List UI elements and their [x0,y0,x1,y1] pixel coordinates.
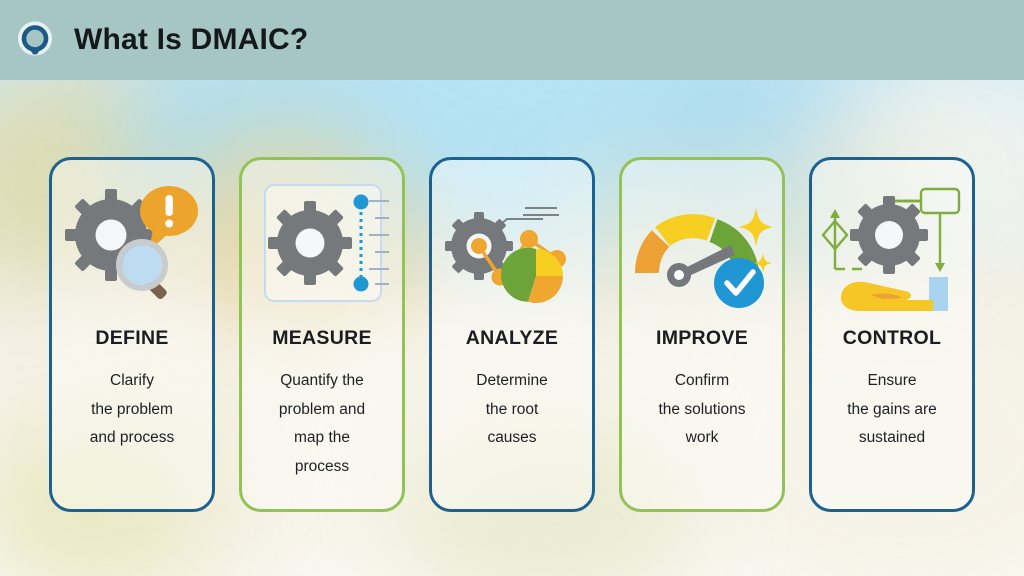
card-title: CONTROL [843,327,942,350]
gear-flowchart-hand-icon [812,160,972,325]
dmaic-card-row: DEFINE Clarify the problem and process [0,0,1024,576]
card-title: MEASURE [272,327,372,350]
card-title: IMPROVE [656,327,748,350]
card-description: Confirm the solutions work [652,367,751,453]
page-title: What Is DMAIC? [74,23,308,57]
gear-ruler-scale-icon [242,160,402,325]
card-improve[interactable]: IMPROVE Confirm the solutions work [619,157,785,512]
card-control[interactable]: CONTROL Ensure the gains are sustained [809,157,975,512]
gear-magnifier-alert-icon [52,160,212,325]
gauge-check-sparkle-icon [622,160,782,325]
lightbulb-ring-icon [14,19,56,61]
card-measure[interactable]: MEASURE Quantify the problem and map the… [239,157,405,512]
card-description: Ensure the gains are sustained [841,367,943,453]
card-title: ANALYZE [466,327,558,350]
card-define[interactable]: DEFINE Clarify the problem and process [49,157,215,512]
card-analyze[interactable]: ANALYZE Determine the root causes [429,157,595,512]
card-description: Determine the root causes [470,367,554,453]
card-description: Clarify the problem and process [84,367,180,453]
gear-chart-pie-icon [432,160,592,325]
slide-canvas: What Is DMAIC? [0,0,1024,576]
card-description: Quantify the problem and map the process [273,367,371,482]
header-bar: What Is DMAIC? [0,0,1024,80]
card-title: DEFINE [95,327,168,350]
